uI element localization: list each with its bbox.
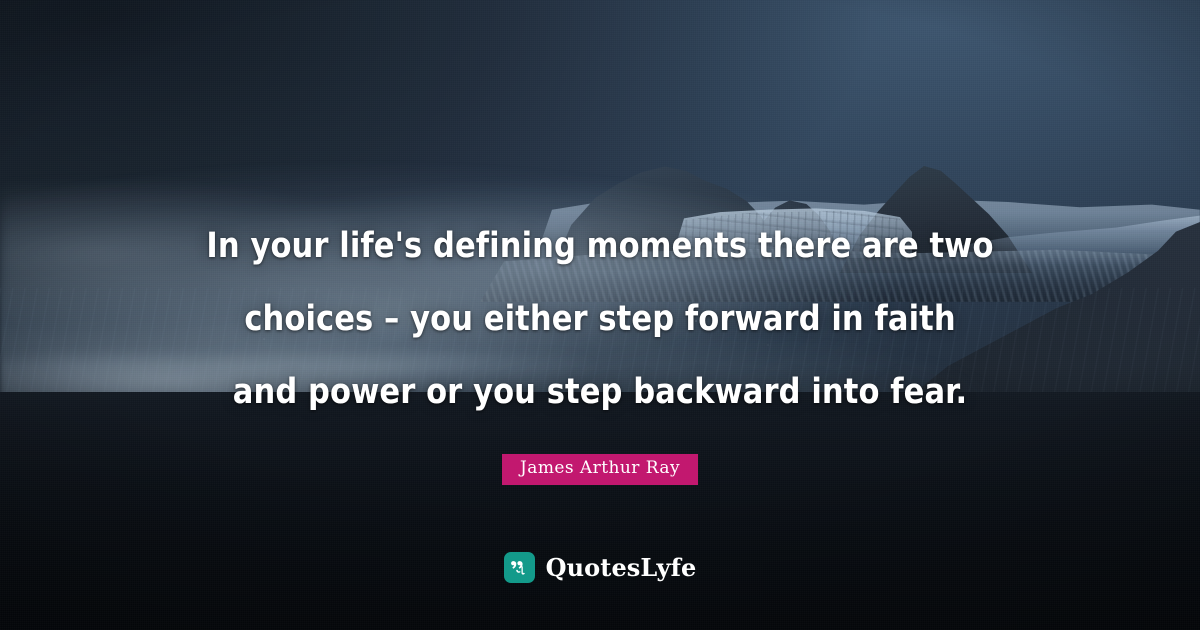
quote-line-1: In your life's defining moments there ar… <box>86 210 1114 283</box>
card-content: In your life's defining moments there ar… <box>0 0 1200 630</box>
quote-mark-icon <box>504 552 535 583</box>
quote-image-card: In your life's defining moments there ar… <box>0 0 1200 630</box>
quote-text: In your life's defining moments there ar… <box>86 210 1114 429</box>
brand-name: QuotesLyfe <box>546 556 697 580</box>
quote-line-3: and power or you step backward into fear… <box>86 356 1114 429</box>
author-badge[interactable]: James Arthur Ray <box>502 454 698 485</box>
brand-logo[interactable]: QuotesLyfe <box>0 552 1200 583</box>
quote-line-2: choices – you either step forward in fai… <box>86 283 1114 356</box>
